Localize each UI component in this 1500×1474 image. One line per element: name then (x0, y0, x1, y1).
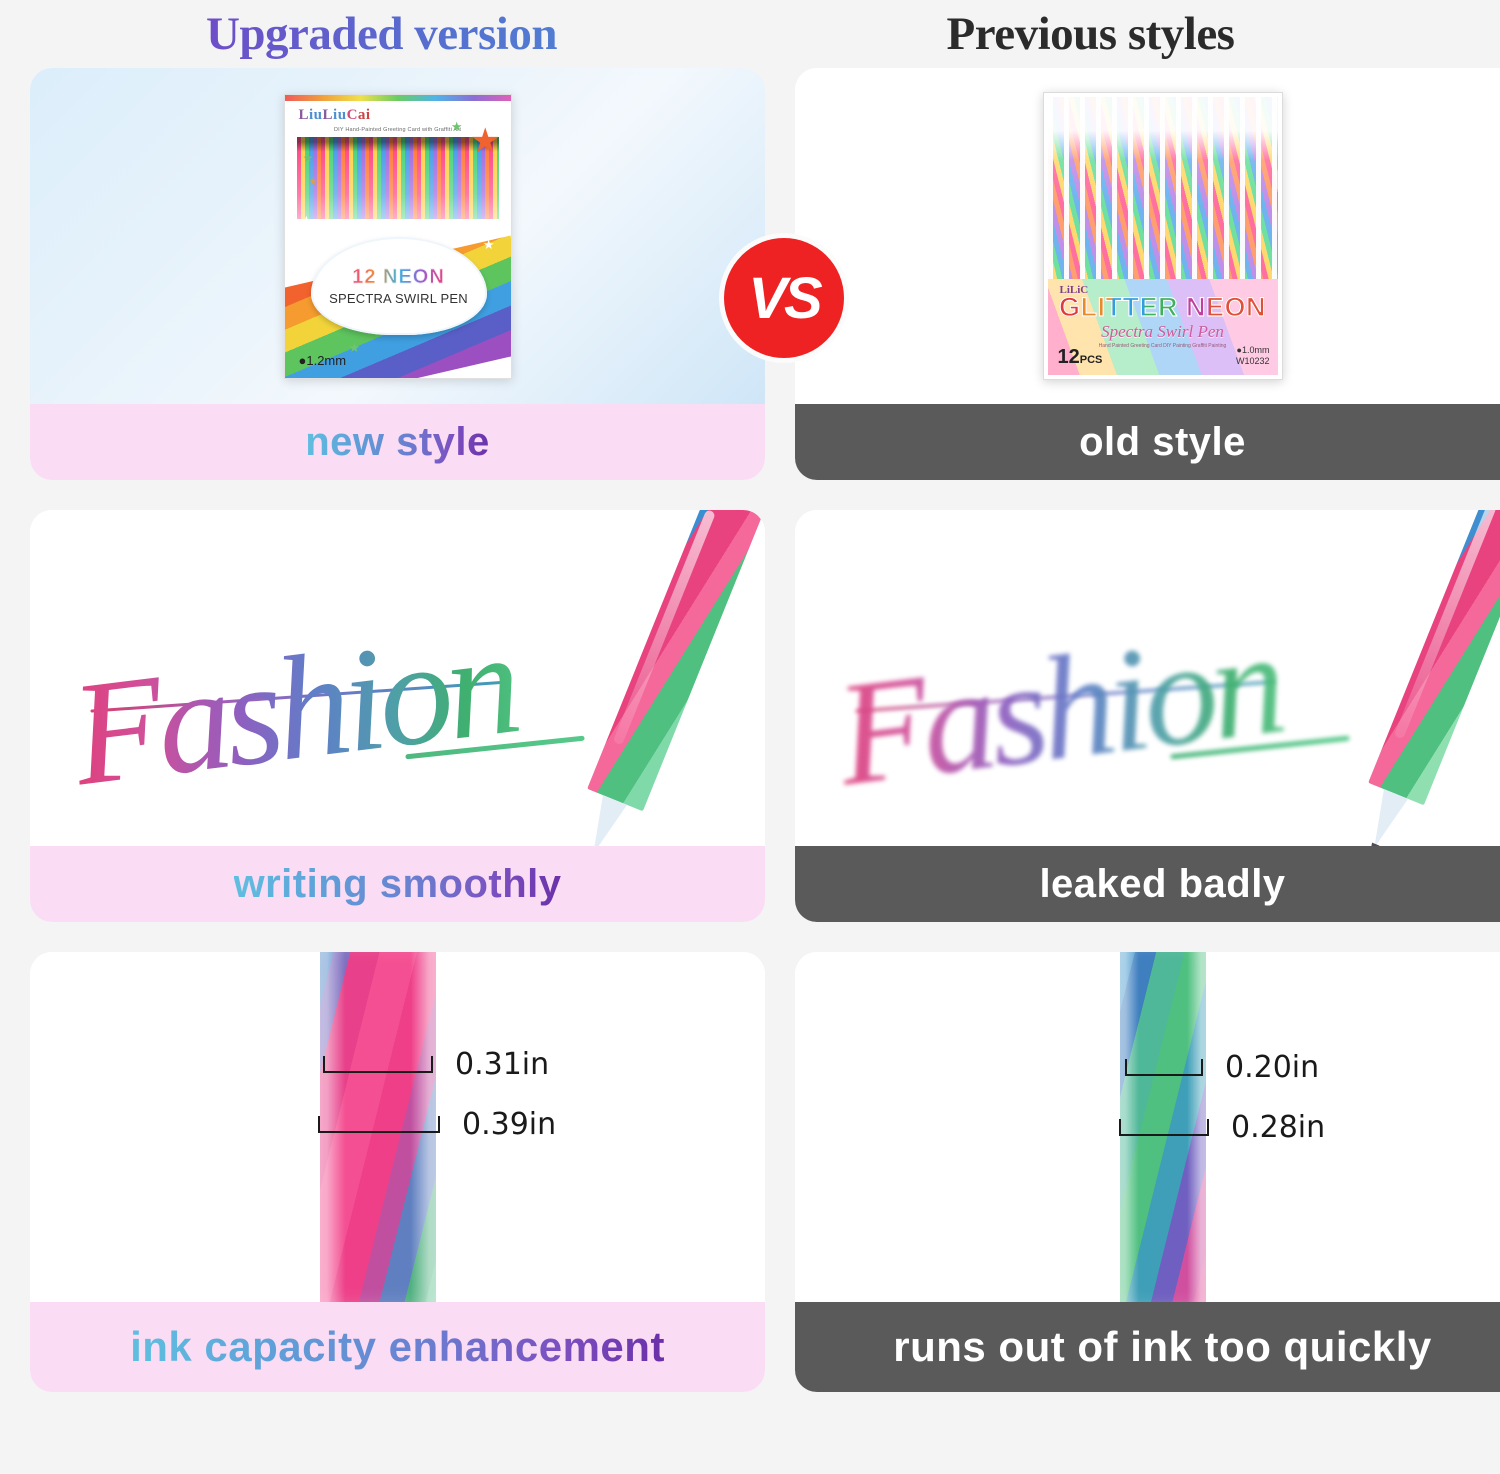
signature-sample: Fashion (828, 598, 1289, 821)
old-box-pieces: 12PCS (1058, 346, 1103, 369)
white-star-icon: ★ (483, 237, 495, 253)
old-product-box: LiLiC GLITTER NEON Spectra Swirl Pen Han… (1043, 92, 1283, 380)
caption-text: ink capacity enhancement (130, 1323, 665, 1371)
comparison-headers: Upgraded version Previous styles (0, 0, 1500, 68)
new-style-image: LiuLiuCai DIY Hand-Painted Greeting Card… (30, 68, 765, 404)
caption-writing-smoothly: writing smoothly (30, 846, 765, 922)
caption-new-style: new style (30, 404, 765, 480)
old-box-tip-size: ●1.0mm (1236, 345, 1270, 356)
caption-text: writing smoothly (234, 862, 562, 907)
caption-old-style: old style (795, 404, 1500, 480)
writing-sample-old: Fashion (795, 510, 1500, 846)
bracket-icon (323, 1056, 433, 1073)
old-box-label: LiLiC GLITTER NEON Spectra Swirl Pen Han… (1048, 279, 1278, 375)
card-writing-smoothly[interactable]: Fashion writing smoothly (30, 510, 765, 922)
card-old-style[interactable]: LiLiC GLITTER NEON Spectra Swirl Pen Han… (795, 68, 1500, 480)
measurement-outer: 0.28in (1119, 1110, 1325, 1145)
barrel-diagram-old: 0.20in 0.28in (795, 952, 1500, 1302)
measurement-outer: 0.39in (318, 1107, 556, 1142)
pen-tip-icon (1362, 789, 1408, 846)
card-ink-capacity[interactable]: 0.31in 0.39in ink capacity enhancement (30, 952, 765, 1392)
old-box-specs: ●1.0mm W10232 (1236, 345, 1270, 368)
bracket-icon (1119, 1119, 1209, 1136)
rainbow-pen-graphic (1368, 510, 1500, 805)
white-star-icon: ★ (471, 281, 483, 297)
new-box-count-label: 12 NEON (352, 266, 445, 289)
pen-array-graphic (1048, 97, 1278, 283)
pen-array-graphic (297, 137, 499, 219)
vs-badge: VS (724, 238, 844, 358)
new-box-tip-size: ●1.2mm (299, 353, 347, 368)
card-leaked-badly[interactable]: Fashion leaked badly (795, 510, 1500, 922)
white-star-icon: ★ (301, 213, 313, 229)
old-box-subtitle: Spectra Swirl Pen (1048, 322, 1278, 342)
card-runs-out-of-ink[interactable]: 0.20in 0.28in runs out of ink too quickl… (795, 952, 1500, 1392)
green-star-icon: ★ (303, 151, 314, 165)
caption-text: old style (1079, 420, 1246, 465)
old-box-model-code: W10232 (1236, 356, 1270, 367)
old-style-image: LiLiC GLITTER NEON Spectra Swirl Pen Han… (795, 68, 1500, 404)
measurement-label: 0.28in (1231, 1110, 1325, 1145)
caption-runs-out-of-ink: runs out of ink too quickly (795, 1302, 1500, 1392)
bracket-icon (1125, 1059, 1203, 1076)
caption-leaked-badly: leaked badly (795, 846, 1500, 922)
measurement-label: 0.31in (455, 1047, 549, 1082)
white-star-icon: ★ (307, 255, 319, 271)
writing-sample-new: Fashion (30, 510, 765, 846)
green-star-icon: ★ (451, 119, 463, 135)
rainbow-pen-graphic (587, 510, 765, 811)
caption-text: runs out of ink too quickly (893, 1323, 1432, 1371)
caption-text: new style (305, 420, 490, 465)
header-upgraded-version: Upgraded version (0, 7, 735, 61)
gold-star-icon: ★ (309, 177, 318, 188)
measurement-label: 0.39in (462, 1107, 556, 1142)
caption-ink-capacity: ink capacity enhancement (30, 1302, 765, 1392)
old-box-title: GLITTER NEON (1048, 294, 1278, 321)
orange-star-icon: ★ (470, 121, 500, 161)
barrel-diagram-new: 0.31in 0.39in (30, 952, 765, 1302)
measurement-label: 0.20in (1225, 1050, 1319, 1085)
vs-label: VS (748, 265, 819, 332)
measurement-inner: 0.31in (323, 1047, 549, 1082)
signature-sample: Fashion (63, 598, 524, 821)
measurement-inner: 0.20in (1125, 1050, 1319, 1085)
new-box-product-name: SPECTRA SWIRL PEN (329, 291, 468, 306)
caption-text: leaked badly (1039, 862, 1285, 907)
bracket-icon (318, 1116, 440, 1133)
pen-tip-icon (581, 795, 627, 846)
new-product-box: LiuLiuCai DIY Hand-Painted Greeting Card… (284, 94, 512, 379)
green-star-icon: ★ (349, 340, 361, 356)
card-new-style[interactable]: LiuLiuCai DIY Hand-Painted Greeting Card… (30, 68, 765, 480)
header-previous-styles: Previous styles (735, 7, 1470, 61)
